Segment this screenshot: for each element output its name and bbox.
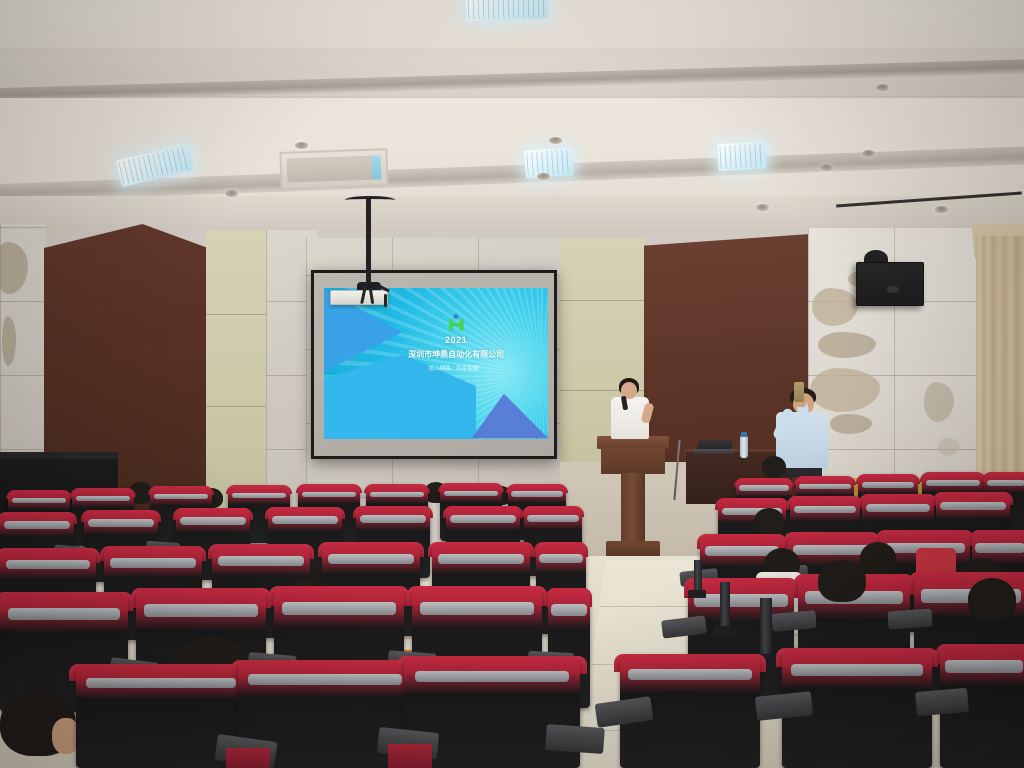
smartphone <box>794 382 804 402</box>
downlight-icon <box>225 190 238 197</box>
seat-pedestal <box>760 598 772 658</box>
logo-dot <box>454 314 459 319</box>
podium-stem <box>621 473 645 543</box>
seat-pedestal-foot <box>688 590 706 598</box>
seat-pedestal <box>720 582 730 630</box>
seat-pedestal-foot <box>714 626 736 635</box>
downlight-icon <box>756 204 769 211</box>
podium-front <box>601 448 665 474</box>
ceiling-ac-vent <box>279 148 388 190</box>
projector-cables <box>362 286 396 306</box>
seat-pedestal <box>694 560 702 594</box>
seat-armrest <box>915 688 969 716</box>
fluorescent-light-back-center <box>466 0 549 21</box>
presenter-at-podium <box>609 378 653 440</box>
seat-armrest-base <box>226 748 270 768</box>
slide-year: 2021 <box>382 335 530 346</box>
seat-armrest <box>887 608 932 629</box>
wall-olive-panel-left <box>206 230 268 524</box>
slide-company-name: 深圳市坤鼎自动化有限公司 <box>382 349 530 360</box>
downlight-icon <box>876 84 889 91</box>
water-bottle <box>740 436 748 458</box>
downlight-icon <box>537 173 550 180</box>
seat-armrest-base <box>388 744 432 768</box>
laptop-on-table <box>694 440 734 454</box>
downlight-icon <box>549 137 562 144</box>
logo-body <box>449 319 464 331</box>
wooden-podium <box>597 436 669 566</box>
fluorescent-light-right <box>717 142 766 171</box>
bottle-cap <box>741 432 747 437</box>
speaker-port <box>887 286 899 293</box>
slide-text-block: 2021 深圳市坤鼎自动化有限公司 加入坤鼎，共享荣耀！ <box>382 314 530 374</box>
wall-speaker <box>856 262 924 306</box>
ac-vent-light-slot <box>372 155 382 179</box>
projected-slide: 2021 深圳市坤鼎自动化有限公司 加入坤鼎，共享荣耀！ <box>324 288 548 439</box>
downlight-icon <box>935 206 948 213</box>
projector-pole <box>366 196 371 286</box>
downlight-icon <box>820 164 833 171</box>
side-cabinet-top <box>0 452 118 459</box>
downlight-icon <box>295 142 308 149</box>
ac-vent-grille <box>287 155 382 182</box>
auditorium-photo: 2021 深圳市坤鼎自动化有限公司 加入坤鼎，共享荣耀！ <box>0 0 1024 768</box>
seat-armrest <box>545 724 605 754</box>
downlight-icon <box>862 150 875 157</box>
company-logo-green-h <box>449 314 464 331</box>
seat-armrest <box>771 610 816 632</box>
laptop-base <box>694 449 734 454</box>
slide-tagline: 加入坤鼎，共享荣耀！ <box>382 365 530 374</box>
